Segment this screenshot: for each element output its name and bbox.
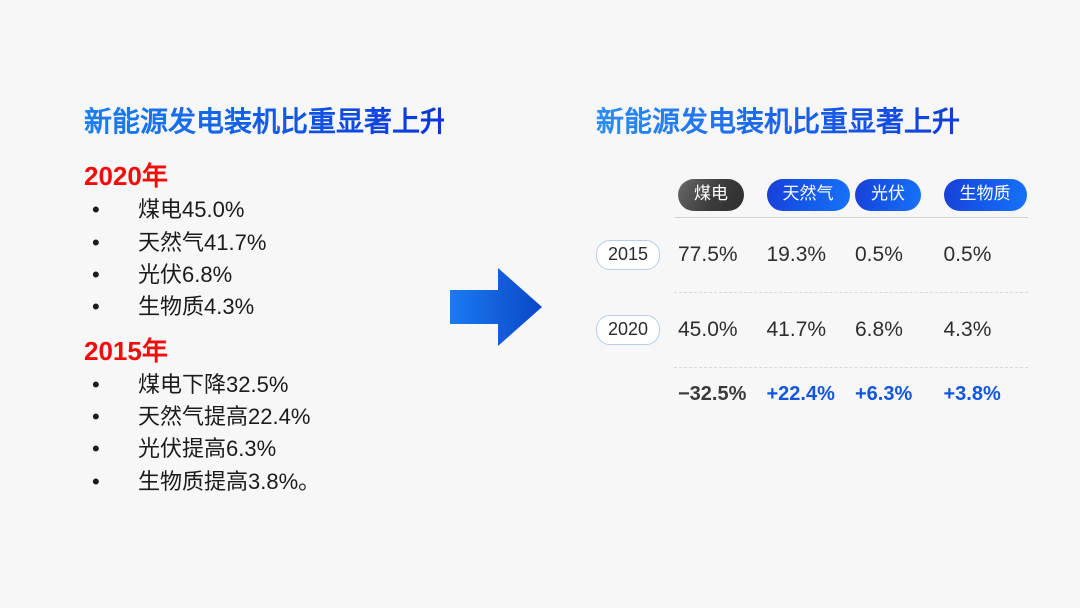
category-pill-gas[interactable]: 天然气: [767, 179, 850, 211]
left-panel-title: 新能源发电装机比重显著上升: [84, 104, 444, 139]
cell-2020-gas: 41.7%: [763, 318, 852, 342]
left-panel: 新能源发电装机比重显著上升 2020年 • 煤电45.0% • 天然气41.7%…: [84, 104, 444, 498]
list-item-label: 煤电下降32.5%: [138, 372, 288, 397]
table-delta-row: −32.5% +22.4% +6.3% +3.8%: [596, 368, 1028, 420]
cell-2015-coal: 77.5%: [674, 243, 763, 267]
cell-2015-gas: 19.3%: [763, 243, 852, 267]
cell-2020-coal: 45.0%: [674, 318, 763, 342]
transition-arrow: [450, 266, 546, 348]
year-pill-2020[interactable]: 2020: [596, 315, 660, 346]
category-pill-biomass[interactable]: 生物质: [944, 179, 1027, 211]
column-header-coal: 煤电: [674, 179, 763, 211]
bullet-dot-icon: •: [92, 369, 100, 401]
delta-solar: +6.3%: [851, 383, 940, 406]
table-row: 2020 45.0% 41.7% 6.8% 4.3%: [596, 293, 1028, 367]
row-label-2020: 2020: [596, 315, 674, 346]
bullet-dot-icon: •: [92, 194, 100, 226]
delta-gas: +22.4%: [763, 383, 852, 406]
list-item: • 生物质4.3%: [84, 291, 444, 323]
left-bullet-list-2020: • 煤电45.0% • 天然气41.7% • 光伏6.8% • 生物质4.3%: [84, 194, 444, 323]
left-section-heading-2015: 2015年: [84, 336, 444, 367]
list-item-label: 光伏6.8%: [138, 262, 232, 287]
cell-2020-solar: 6.8%: [851, 318, 940, 342]
list-item-label: 光伏提高6.3%: [138, 436, 276, 461]
list-item-label: 天然气提高22.4%: [138, 404, 310, 429]
list-item: • 光伏6.8%: [84, 259, 444, 291]
cell-2015-biomass: 0.5%: [940, 243, 1029, 267]
bullet-dot-icon: •: [92, 433, 100, 465]
list-item: • 光伏提高6.3%: [84, 433, 444, 465]
list-item: • 煤电下降32.5%: [84, 369, 444, 401]
list-item-label: 天然气41.7%: [138, 230, 266, 255]
table-row: 2015 77.5% 19.3% 0.5% 0.5%: [596, 218, 1028, 292]
column-header-gas: 天然气: [763, 179, 852, 211]
list-item: • 天然气41.7%: [84, 227, 444, 259]
slide-canvas: 新能源发电装机比重显著上升 2020年 • 煤电45.0% • 天然气41.7%…: [0, 0, 1080, 608]
table-header-row: 煤电 天然气 光伏 生物质: [596, 173, 1028, 217]
right-panel: 新能源发电装机比重显著上升 煤电 天然气 光伏 生物质: [596, 104, 1028, 420]
list-item-label: 生物质提高3.8%。: [138, 469, 320, 494]
cell-2020-biomass: 4.3%: [940, 318, 1029, 342]
comparison-table: 煤电 天然气 光伏 生物质 2015 77.5% 19.3%: [596, 173, 1028, 420]
column-header-solar: 光伏: [851, 179, 940, 211]
list-item-label: 煤电45.0%: [138, 197, 244, 222]
list-item: • 煤电45.0%: [84, 194, 444, 226]
right-panel-title: 新能源发电装机比重显著上升: [596, 104, 1028, 139]
delta-coal: −32.5%: [674, 383, 763, 406]
left-bullet-list-2015: • 煤电下降32.5% • 天然气提高22.4% • 光伏提高6.3% • 生物…: [84, 369, 444, 498]
bullet-dot-icon: •: [92, 227, 100, 259]
left-section-heading-2020: 2020年: [84, 161, 444, 192]
delta-biomass: +3.8%: [940, 383, 1029, 406]
column-header-biomass: 生物质: [940, 179, 1029, 211]
year-pill-2015[interactable]: 2015: [596, 240, 660, 271]
right-arrow-icon: [450, 266, 546, 348]
bullet-dot-icon: •: [92, 259, 100, 291]
category-pill-coal[interactable]: 煤电: [678, 179, 744, 211]
list-item: • 天然气提高22.4%: [84, 401, 444, 433]
list-item-label: 生物质4.3%: [138, 294, 254, 319]
row-label-2015: 2015: [596, 240, 674, 271]
category-pill-solar[interactable]: 光伏: [855, 179, 921, 211]
list-item: • 生物质提高3.8%。: [84, 466, 444, 498]
bullet-dot-icon: •: [92, 291, 100, 323]
cell-2015-solar: 0.5%: [851, 243, 940, 267]
bullet-dot-icon: •: [92, 401, 100, 433]
bullet-dot-icon: •: [92, 466, 100, 498]
